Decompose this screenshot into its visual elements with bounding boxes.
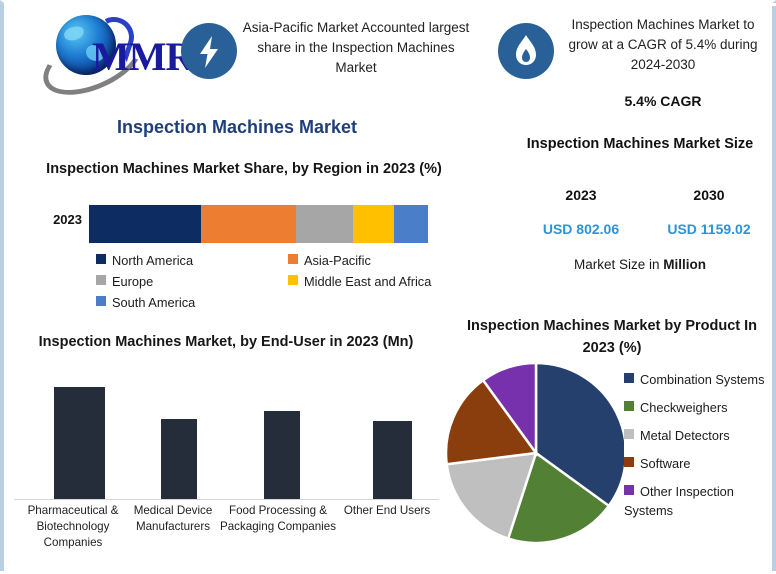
header-callout-left-text: Asia-Pacific Market Accounted largest sh… [242,18,470,78]
legend-swatch-icon [624,373,634,383]
end-user-category-label: Pharmaceutical & Biotechnology Companies [10,503,136,551]
legend-swatch-icon [624,401,634,411]
region-legend-item-asia-pacific: Asia-Pacific [288,253,371,268]
end-user-category-label: Medical Device Manufacturers [120,503,226,535]
region-segment-europe [296,205,354,243]
end-user-bar [264,411,300,499]
market-size-unit-prefix: Market Size in [574,257,663,272]
region-share-chart: Inspection Machines Market Share, by Reg… [4,158,454,318]
brand-logo: MMR [18,11,178,81]
page-title: Inspection Machines Market [62,117,412,138]
market-size-value-2023: USD 802.06 [522,221,640,237]
market-size-year-2030: 2030 [654,187,764,203]
by-product-pie [444,358,624,548]
end-user-bar [54,387,105,499]
legend-swatch-icon [96,275,106,285]
by-product-chart-title: Inspection Machines Market by Product In… [454,315,770,359]
by-product-legend-label: Checkweighers [640,400,728,415]
by-product-legend-label: Software [640,456,691,471]
header-bar: MMR Asia-Pacific Market Accounted larges… [4,3,776,103]
by-product-legend: Combination SystemsCheckweighersMetal De… [624,370,776,529]
region-legend-label: Asia-Pacific [304,253,371,268]
end-user-category-label: Food Processing & Packaging Companies [220,503,336,535]
region-legend-item-europe: Europe [96,274,153,289]
by-product-legend-label: Other Inspection Systems [624,484,734,518]
by-product-legend-item-combination-systems: Combination Systems [624,370,776,389]
region-segment-south-america [394,205,428,243]
market-size-unit-value: Million [663,257,706,272]
region-share-legend: North AmericaAsia-PacificEuropeMiddle Ea… [96,253,456,316]
region-legend-row: North AmericaAsia-Pacific [96,253,456,274]
region-legend-row: EuropeMiddle East and Africa [96,274,456,295]
by-product-legend-item-metal-detectors: Metal Detectors [624,426,776,445]
market-size-value-2030: USD 1159.02 [650,221,768,237]
market-size-panel: Inspection Machines Market Size 2023 203… [504,133,776,293]
legend-swatch-icon [96,296,106,306]
legend-swatch-icon [624,457,634,467]
region-segment-north-america [89,205,201,243]
by-product-legend-item-checkweighers: Checkweighers [624,398,776,417]
legend-swatch-icon [624,429,634,439]
market-size-unit-note: Market Size in Million [504,257,776,272]
region-legend-item-middle-east-and-africa: Middle East and Africa [288,274,431,289]
region-legend-label: Europe [112,274,153,289]
end-user-category-labels: Pharmaceutical & Biotechnology Companies… [8,503,444,573]
end-user-chart-title: Inspection Machines Market, by End-User … [26,331,426,353]
end-user-bar [373,421,412,499]
by-product-legend-item-other-inspection-systems: Other Inspection Systems [624,482,776,520]
market-size-year-2023: 2023 [526,187,636,203]
legend-swatch-icon [96,254,106,264]
legend-swatch-icon [288,275,298,285]
region-share-stacked-bar [89,205,428,243]
market-size-title: Inspection Machines Market Size [504,133,776,156]
region-legend-label: North America [112,253,193,268]
region-share-chart-title: Inspection Machines Market Share, by Reg… [44,158,444,180]
region-segment-middle-east-and-africa [353,205,394,243]
end-user-chart: Inspection Machines Market, by End-User … [4,331,449,574]
cagr-badge: 5.4% CAGR [560,93,766,109]
region-legend-label: South America [112,295,195,310]
legend-swatch-icon [624,485,634,495]
region-share-axis-label: 2023 [32,212,82,227]
region-legend-row: South America [96,295,456,316]
lightning-bolt-icon [181,23,237,79]
infographic-page: MMR Asia-Pacific Market Accounted larges… [0,0,776,571]
flame-icon [498,23,554,79]
region-segment-asia-pacific [201,205,296,243]
by-product-legend-label: Combination Systems [640,372,764,387]
by-product-chart: Inspection Machines Market by Product In… [444,315,776,574]
header-callout-right-text: Inspection Machines Market to grow at a … [560,15,766,75]
region-legend-label: Middle East and Africa [304,274,431,289]
end-user-category-label: Other End Users [330,503,444,519]
end-user-plot-area [14,376,439,500]
brand-name: MMR [92,33,193,80]
by-product-legend-label: Metal Detectors [640,428,730,443]
legend-swatch-icon [288,254,298,264]
by-product-legend-item-software: Software [624,454,776,473]
region-legend-item-north-america: North America [96,253,193,268]
region-legend-item-south-america: South America [96,295,195,310]
end-user-bar [161,419,197,500]
